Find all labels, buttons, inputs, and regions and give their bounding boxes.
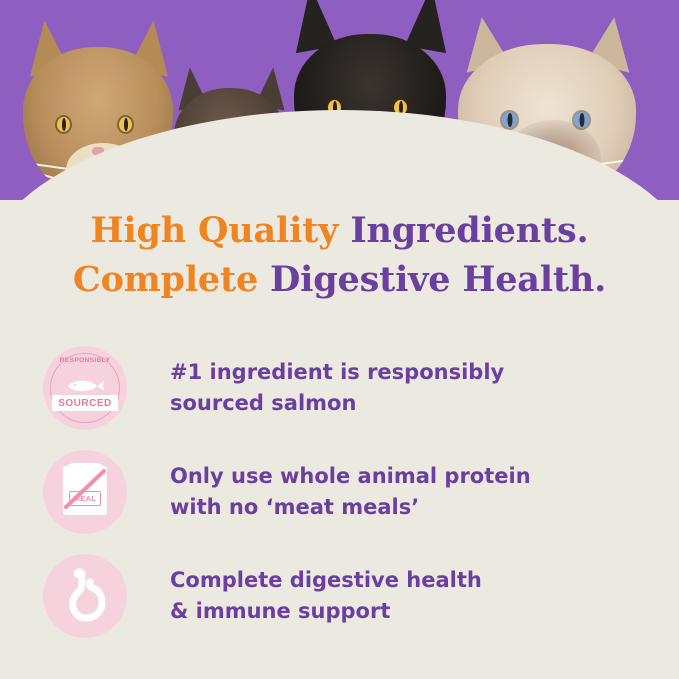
feature-row-digestive-health: Complete digestive health & immune suppo… [0,544,679,648]
cat-whisker [27,162,67,169]
feature-list: RESPONSIBLY SOURCED #1 ingredient is res… [0,336,679,648]
stomach-shape [57,568,113,624]
seal-band: SOURCED [52,395,118,411]
product-infographic: High Quality Ingredients. Complete Diges… [0,0,679,679]
fish-icon [65,379,105,393]
feature-text-line-1: Complete digestive health [170,565,482,596]
feature-text-line-1: #1 ingredient is responsibly [170,357,504,388]
headline-line-2: Complete Digestive Health. [0,255,679,304]
badge-wrap: MEAL [0,450,170,534]
badge-wrap [0,554,170,638]
cat-eye-right [574,112,589,128]
feature-text-line-1: Only use whole animal protein [170,461,531,492]
cat-eye-left [57,117,70,132]
feature-text-line-2: sourced salmon [170,388,504,419]
cat-eye-left [502,112,517,128]
seal-band-label: SOURCED [58,398,112,409]
feature-text-digestive-health: Complete digestive health & immune suppo… [170,565,482,627]
headline-line-2-purple: Digestive Health. [270,259,606,300]
bottom-spacer [0,649,679,679]
seal-top-label: RESPONSIBLY [43,357,127,364]
stomach-heart-icon [43,554,127,638]
feature-text-line-2: with no ‘meat meals’ [170,492,531,523]
cat-photo-banner [0,0,679,200]
headline-line-1: High Quality Ingredients. [0,206,679,255]
feature-text-sourced-salmon: #1 ingredient is responsibly sourced sal… [170,357,504,419]
headline-line-2-orange: Complete [73,259,258,300]
feature-text-whole-protein: Only use whole animal protein with no ‘m… [170,461,531,523]
responsibly-sourced-seal-icon: RESPONSIBLY SOURCED [43,346,127,430]
meal-bag-icon: MEAL [43,450,127,534]
headline-line-1-purple: Ingredients. [350,210,588,251]
feature-row-whole-protein: MEAL Only use whole animal protein with … [0,440,679,544]
no-slash-icon [62,467,108,513]
headline-line-1-orange: High Quality [91,210,339,251]
feature-row-sourced-salmon: RESPONSIBLY SOURCED #1 ingredient is res… [0,336,679,440]
page-title: High Quality Ingredients. Complete Diges… [0,206,679,304]
feature-text-line-2: & immune support [170,596,482,627]
badge-wrap: RESPONSIBLY SOURCED [0,346,170,430]
cat-eye-right [119,117,132,132]
